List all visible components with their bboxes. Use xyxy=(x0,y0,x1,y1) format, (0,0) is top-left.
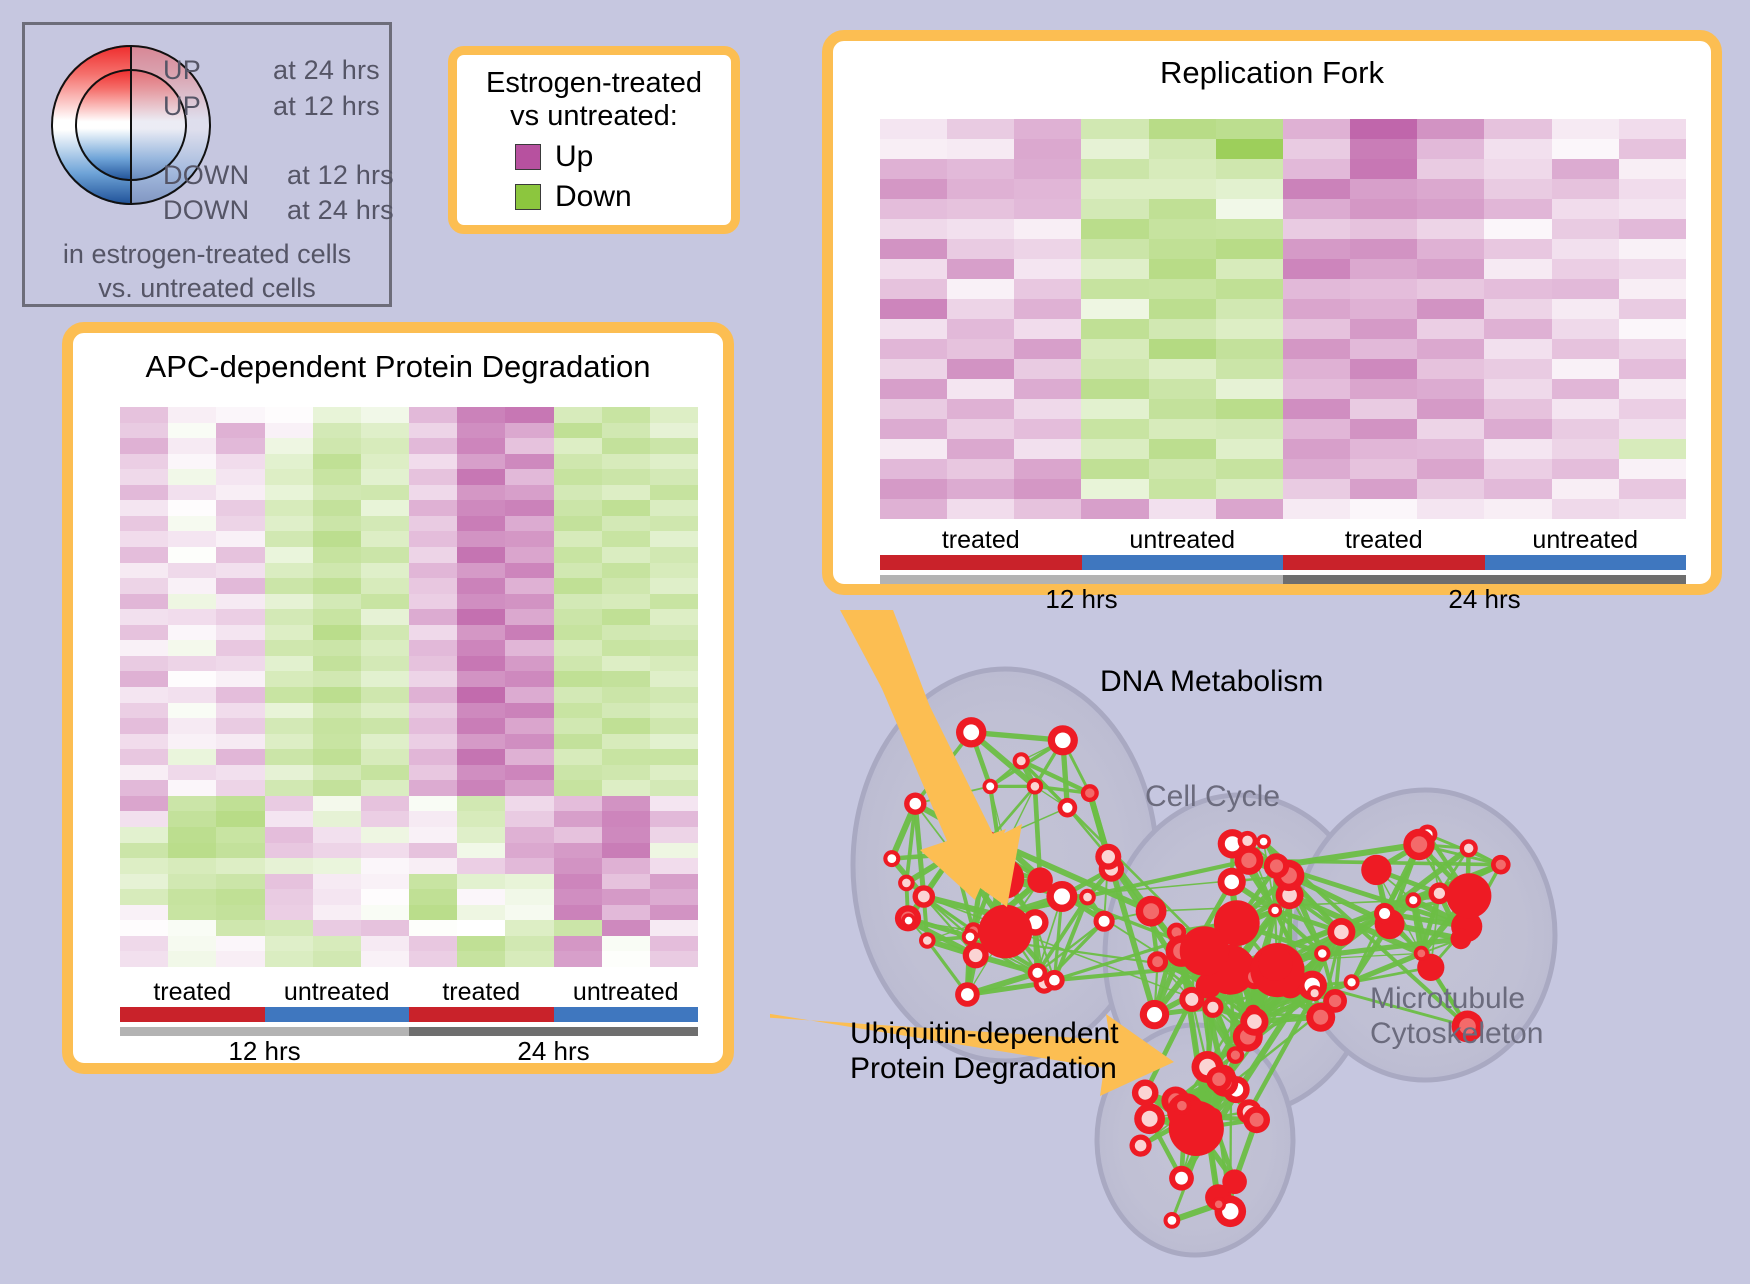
heatmap-cell xyxy=(1149,319,1216,339)
network-node[interactable] xyxy=(913,885,936,908)
heatmap-cell xyxy=(650,469,698,485)
heatmap-cell xyxy=(554,671,602,687)
heatmap-cell xyxy=(554,858,602,874)
network-node[interactable] xyxy=(1403,829,1434,860)
heatmap-cell xyxy=(313,609,361,625)
heatmap-cell xyxy=(409,625,457,641)
heatmap-cell xyxy=(650,703,698,719)
heatmap-cell xyxy=(650,578,698,594)
wheel-at-12-hrs-bottom: at 12 hrs xyxy=(287,160,394,191)
heatmap-cell xyxy=(1014,319,1081,339)
network-node[interactable] xyxy=(1460,839,1478,857)
heatmap-cell xyxy=(650,609,698,625)
heatmap-cell xyxy=(505,485,553,501)
heatmap-cell xyxy=(1216,299,1283,319)
heatmap-cell xyxy=(947,139,1014,159)
heatmap-cell xyxy=(602,796,650,812)
heatmap-cell xyxy=(505,640,553,656)
network-node[interactable] xyxy=(1130,1135,1152,1157)
heatmap-cell xyxy=(1552,179,1619,199)
heatmap-cell xyxy=(361,469,409,485)
heatmap-cell xyxy=(1484,439,1551,459)
network-node[interactable] xyxy=(1202,997,1223,1018)
network-node[interactable] xyxy=(1222,1169,1247,1194)
heatmap-cell xyxy=(361,671,409,687)
heatmap-cell xyxy=(650,905,698,921)
heatmap-cell xyxy=(265,671,313,687)
heatmap-cell xyxy=(216,718,264,734)
heatmap-cell xyxy=(168,718,216,734)
up-color-swatch xyxy=(515,144,541,170)
heatmap-cell xyxy=(313,843,361,859)
heatmap-cell xyxy=(1417,179,1484,199)
heatmap-cell xyxy=(361,407,409,423)
heatmap-cell xyxy=(1014,479,1081,499)
heatmap-cell xyxy=(457,547,505,563)
heatmap-cell xyxy=(650,780,698,796)
network-node[interactable] xyxy=(1081,784,1099,802)
heatmap-cell xyxy=(554,889,602,905)
heatmap-cell xyxy=(457,469,505,485)
network-node-core xyxy=(1147,1007,1162,1022)
network-node[interactable] xyxy=(1095,844,1121,870)
network-node[interactable] xyxy=(1414,946,1429,961)
heatmap-cell xyxy=(602,531,650,547)
heatmap-cell xyxy=(168,858,216,874)
heatmap-cell xyxy=(313,516,361,532)
heatmap-cell xyxy=(554,811,602,827)
network-node-core xyxy=(1250,1113,1264,1127)
heatmap-cell xyxy=(457,625,505,641)
network-node[interactable] xyxy=(1180,926,1229,975)
heatmap-cell xyxy=(120,687,168,703)
heatmap-cell xyxy=(947,439,1014,459)
heatmap-cell xyxy=(1417,139,1484,159)
heatmap-cell xyxy=(1014,279,1081,299)
heatmap-cell xyxy=(216,687,264,703)
heatmap-cell xyxy=(1619,259,1686,279)
heatmap-cell xyxy=(1350,479,1417,499)
network-node[interactable] xyxy=(1048,725,1078,755)
heatmap-cell xyxy=(1149,119,1216,139)
network-node[interactable] xyxy=(1206,1066,1232,1092)
heatmap-cell xyxy=(602,687,650,703)
network-node-core xyxy=(887,854,896,863)
heatmap-cell xyxy=(1417,479,1484,499)
heatmap-cell xyxy=(650,454,698,470)
heatmap-cell xyxy=(313,749,361,765)
network-node[interactable] xyxy=(979,905,1033,959)
condition-color-segment xyxy=(1283,555,1485,570)
condition-label: untreated xyxy=(1082,526,1284,555)
network-node[interactable] xyxy=(1327,918,1355,946)
replication-fork-condition-labels: treateduntreatedtreateduntreated xyxy=(880,526,1686,555)
heatmap-cell xyxy=(602,827,650,843)
network-node-core xyxy=(1318,949,1327,958)
network-node[interactable] xyxy=(904,793,926,815)
network-node[interactable] xyxy=(919,932,936,949)
heatmap-cell xyxy=(1417,339,1484,359)
heatmap-cell xyxy=(265,905,313,921)
heatmap-cell xyxy=(265,734,313,750)
heatmap-cell xyxy=(120,454,168,470)
network-node-core xyxy=(1231,1051,1240,1060)
network-node-core xyxy=(1049,975,1060,986)
heatmap-cell xyxy=(1081,359,1148,379)
heatmap-cell xyxy=(120,625,168,641)
heatmap-cell xyxy=(1417,379,1484,399)
heatmap-cell xyxy=(168,780,216,796)
network-node[interactable] xyxy=(1451,928,1472,949)
heatmap-cell xyxy=(554,718,602,734)
heatmap-cell xyxy=(1484,359,1551,379)
wheel-down-24-label: DOWN xyxy=(163,195,249,226)
heatmap-cell xyxy=(602,780,650,796)
network-node[interactable] xyxy=(1147,951,1168,972)
network-node[interactable] xyxy=(1238,831,1258,851)
network-node[interactable] xyxy=(898,875,915,892)
heatmap-cell xyxy=(947,339,1014,359)
heatmap-cell xyxy=(1283,439,1350,459)
ubiquitin-label-line1: Ubiquitin-dependent xyxy=(850,1016,1119,1051)
network-node[interactable] xyxy=(1140,1000,1169,1029)
heatmap-cell xyxy=(505,594,553,610)
heatmap-cell xyxy=(1350,279,1417,299)
heatmap-cell xyxy=(1350,219,1417,239)
heatmap-cell xyxy=(947,219,1014,239)
heatmap-cell xyxy=(650,765,698,781)
heatmap-cell xyxy=(650,640,698,656)
network-node[interactable] xyxy=(1268,903,1282,917)
heatmap-cell xyxy=(409,811,457,827)
heatmap-cell xyxy=(1350,159,1417,179)
heatmap-cell xyxy=(120,905,168,921)
network-node[interactable] xyxy=(1307,985,1323,1001)
heatmap-cell xyxy=(216,936,264,952)
heatmap-cell xyxy=(602,671,650,687)
heatmap-cell xyxy=(1552,159,1619,179)
heatmap-cell xyxy=(602,843,650,859)
heatmap-cell xyxy=(1014,119,1081,139)
heatmap-cell xyxy=(1283,159,1350,179)
heatmap-cell xyxy=(1081,199,1148,219)
network-node[interactable] xyxy=(1258,947,1292,981)
heatmap-cell xyxy=(120,936,168,952)
heatmap-cell xyxy=(1149,499,1216,519)
heatmap-cell xyxy=(1619,179,1686,199)
heatmap-cell xyxy=(554,827,602,843)
network-node[interactable] xyxy=(956,717,986,747)
heatmap-cell xyxy=(265,796,313,812)
heatmap-cell xyxy=(602,609,650,625)
heatmap-cell xyxy=(1081,119,1148,139)
network-node[interactable] xyxy=(1164,1212,1181,1229)
network-node[interactable] xyxy=(1306,1003,1335,1032)
network-node[interactable] xyxy=(1227,1046,1245,1064)
network-node[interactable] xyxy=(1173,1097,1191,1115)
network-node[interactable] xyxy=(1446,873,1491,918)
heatmap-cell xyxy=(1417,219,1484,239)
timepoint-color-segment xyxy=(880,575,1283,584)
heatmap-cell xyxy=(457,749,505,765)
heatmap-cell xyxy=(457,718,505,734)
heatmap-cell xyxy=(265,516,313,532)
condition-color-segment xyxy=(554,1007,699,1022)
microtubule-label-line1: Microtubule xyxy=(1370,982,1543,1017)
heatmap-cell xyxy=(602,454,650,470)
heatmap-cell xyxy=(505,423,553,439)
heatmap-cell xyxy=(409,454,457,470)
heatmap-cell xyxy=(650,936,698,952)
heatmap-cell xyxy=(313,500,361,516)
heatmap-cell xyxy=(1216,279,1283,299)
network-node[interactable] xyxy=(1374,903,1395,924)
network-node[interactable] xyxy=(1169,1166,1194,1191)
heatmap-cell xyxy=(361,889,409,905)
heatmap-cell xyxy=(457,531,505,547)
heatmap-cell xyxy=(650,563,698,579)
heatmap-cell xyxy=(1552,319,1619,339)
heatmap-cell xyxy=(1619,119,1686,139)
heatmap-cell xyxy=(650,796,698,812)
heatmap-cell xyxy=(505,625,553,641)
heatmap-cell xyxy=(1619,439,1686,459)
network-node[interactable] xyxy=(1218,868,1246,896)
heatmap-cell xyxy=(1081,499,1148,519)
network-node-core xyxy=(1313,1010,1328,1025)
network-node[interactable] xyxy=(883,850,900,867)
heatmap-cell xyxy=(505,905,553,921)
heatmap-cell xyxy=(120,609,168,625)
heatmap-cell xyxy=(216,547,264,563)
heatmap-cell xyxy=(265,920,313,936)
heatmap-cell xyxy=(216,889,264,905)
heatmap-cell xyxy=(650,843,698,859)
heatmap-cell xyxy=(1417,399,1484,419)
network-node[interactable] xyxy=(1264,853,1289,878)
network-node[interactable] xyxy=(1211,1197,1226,1212)
network-node[interactable] xyxy=(1079,889,1096,906)
network-node-core xyxy=(1062,803,1072,813)
heatmap-cell xyxy=(505,500,553,516)
network-node[interactable] xyxy=(1134,1103,1165,1134)
heatmap-cell xyxy=(554,531,602,547)
heatmap-cell xyxy=(602,920,650,936)
heatmap-cell xyxy=(1283,199,1350,219)
heatmap-cell xyxy=(265,594,313,610)
network-node-core xyxy=(1212,1073,1225,1086)
heatmap-cell xyxy=(1484,319,1551,339)
heatmap-cell xyxy=(650,811,698,827)
condition-color-segment xyxy=(120,1007,265,1022)
heatmap-cell xyxy=(168,827,216,843)
heatmap-cell xyxy=(216,951,264,967)
heatmap-cell xyxy=(602,905,650,921)
replication-fork-panel: Replication Fork treateduntreatedtreated… xyxy=(822,30,1722,595)
heatmap-cell xyxy=(1619,139,1686,159)
heatmap-cell xyxy=(409,407,457,423)
network-node-core xyxy=(1168,1216,1177,1225)
heatmap-cell xyxy=(505,531,553,547)
heatmap-cell xyxy=(120,749,168,765)
heatmap-cell xyxy=(1149,459,1216,479)
heatmap-cell xyxy=(409,718,457,734)
network-node[interactable] xyxy=(1243,1106,1270,1133)
heatmap-cell xyxy=(1552,119,1619,139)
heatmap-cell xyxy=(650,438,698,454)
network-node[interactable] xyxy=(962,929,978,945)
heatmap-cell xyxy=(880,119,947,139)
network-node[interactable] xyxy=(1058,798,1078,818)
network-node[interactable] xyxy=(955,982,980,1007)
network-node[interactable] xyxy=(1136,896,1167,927)
heatmap-cell xyxy=(120,734,168,750)
heatmap-cell xyxy=(168,516,216,532)
heatmap-cell xyxy=(602,423,650,439)
heatmap-cell xyxy=(505,578,553,594)
heatmap-cell xyxy=(313,858,361,874)
network-node[interactable] xyxy=(1028,963,1048,983)
heatmap-cell xyxy=(457,671,505,687)
heatmap-cell xyxy=(361,563,409,579)
heatmap-cell xyxy=(409,640,457,656)
heatmap-cell xyxy=(505,749,553,765)
heatmap-cell xyxy=(1417,259,1484,279)
heatmap-cell xyxy=(554,687,602,703)
heatmap-cell xyxy=(880,219,947,239)
heatmap-cell xyxy=(361,780,409,796)
heatmap-cell xyxy=(216,843,264,859)
heatmap-cell xyxy=(505,438,553,454)
network-node[interactable] xyxy=(1491,855,1511,875)
heatmap-cell xyxy=(265,640,313,656)
network-node-core xyxy=(1270,859,1283,872)
network-node[interactable] xyxy=(1094,911,1115,932)
heatmap-cell xyxy=(1552,239,1619,259)
network-node[interactable] xyxy=(901,913,916,928)
network-node[interactable] xyxy=(1132,1080,1159,1107)
heatmap-cell xyxy=(880,419,947,439)
network-node[interactable] xyxy=(983,779,998,794)
heatmap-cell xyxy=(1216,199,1283,219)
apc-time-labels: 12 hrs24 hrs xyxy=(120,1036,698,1067)
heatmap-cell xyxy=(313,594,361,610)
heatmap-cell xyxy=(554,594,602,610)
heatmap-cell xyxy=(1417,199,1484,219)
heatmap-cell xyxy=(1619,199,1686,219)
heatmap-cell xyxy=(602,640,650,656)
heatmap-cell xyxy=(313,874,361,890)
heatmap-cell xyxy=(505,874,553,890)
network-node-core xyxy=(905,917,913,925)
heatmap-cell xyxy=(1350,139,1417,159)
heatmap-cell xyxy=(216,656,264,672)
heatmap-cell xyxy=(457,858,505,874)
condition-label: untreated xyxy=(1485,526,1687,555)
heatmap-cell xyxy=(313,718,361,734)
network-node[interactable] xyxy=(1361,855,1391,885)
heatmap-cell xyxy=(1619,339,1686,359)
network-node-core xyxy=(1177,1101,1187,1111)
heatmap-cell xyxy=(1619,319,1686,339)
network-node[interactable] xyxy=(1405,892,1421,908)
heatmap-cell xyxy=(120,718,168,734)
heatmap-cell xyxy=(168,734,216,750)
network-node-core xyxy=(1102,850,1115,863)
heatmap-cell xyxy=(947,399,1014,419)
heatmap-cell xyxy=(313,951,361,967)
network-node[interactable] xyxy=(1027,867,1053,893)
heatmap-cell xyxy=(168,625,216,641)
network-node-core xyxy=(1175,1172,1188,1185)
network-node[interactable] xyxy=(1027,778,1043,794)
heatmap-cell xyxy=(947,119,1014,139)
network-node-core xyxy=(923,936,932,945)
heatmap-cell xyxy=(216,594,264,610)
network-node-core xyxy=(1001,842,1010,851)
heatmap-cell xyxy=(650,516,698,532)
heatmap-cell xyxy=(554,843,602,859)
heatmap-cell xyxy=(216,749,264,765)
heatmap-cell xyxy=(265,656,313,672)
heatmap-cell xyxy=(1552,359,1619,379)
heatmap-cell xyxy=(650,951,698,967)
heatmap-cell xyxy=(602,563,650,579)
heatmap-cell xyxy=(361,609,409,625)
heatmap-cell xyxy=(265,423,313,439)
heatmap-cell xyxy=(216,780,264,796)
network-node[interactable] xyxy=(1256,834,1271,849)
heatmap-cell xyxy=(1081,339,1148,359)
heatmap-cell xyxy=(1149,259,1216,279)
heatmap-cell xyxy=(1619,219,1686,239)
heatmap-cell xyxy=(1283,419,1350,439)
heatmap-cell xyxy=(1081,279,1148,299)
network-node-core xyxy=(966,933,975,942)
network-node[interactable] xyxy=(1240,1008,1268,1036)
network-node[interactable] xyxy=(1344,974,1360,990)
heatmap-cell xyxy=(120,703,168,719)
heatmap-cell xyxy=(457,563,505,579)
heatmap-cell xyxy=(265,827,313,843)
heatmap-cell xyxy=(361,423,409,439)
heatmap-cell xyxy=(265,765,313,781)
heatmap-cell xyxy=(505,951,553,967)
heatmap-cell xyxy=(457,578,505,594)
heatmap-cell xyxy=(1149,299,1216,319)
condition-color-segment xyxy=(880,555,1082,570)
heatmap-cell xyxy=(313,656,361,672)
heatmap-cell xyxy=(457,703,505,719)
network-node-core xyxy=(1271,907,1278,914)
heatmap-cell xyxy=(1081,479,1148,499)
heatmap-cell xyxy=(602,500,650,516)
heatmap-cell xyxy=(650,547,698,563)
network-node[interactable] xyxy=(1314,945,1330,961)
heatmap-cell xyxy=(168,438,216,454)
network-node[interactable] xyxy=(1013,752,1030,769)
heatmap-cell xyxy=(216,407,264,423)
heatmap-cell xyxy=(1014,199,1081,219)
heatmap-cell xyxy=(1619,239,1686,259)
heatmap-cell xyxy=(1350,339,1417,359)
heatmap-cell xyxy=(216,640,264,656)
heatmap-cell xyxy=(650,423,698,439)
heatmap-cell xyxy=(880,259,947,279)
heatmap-cell xyxy=(505,858,553,874)
heatmap-cell xyxy=(120,765,168,781)
heatmap-cell xyxy=(1081,419,1148,439)
